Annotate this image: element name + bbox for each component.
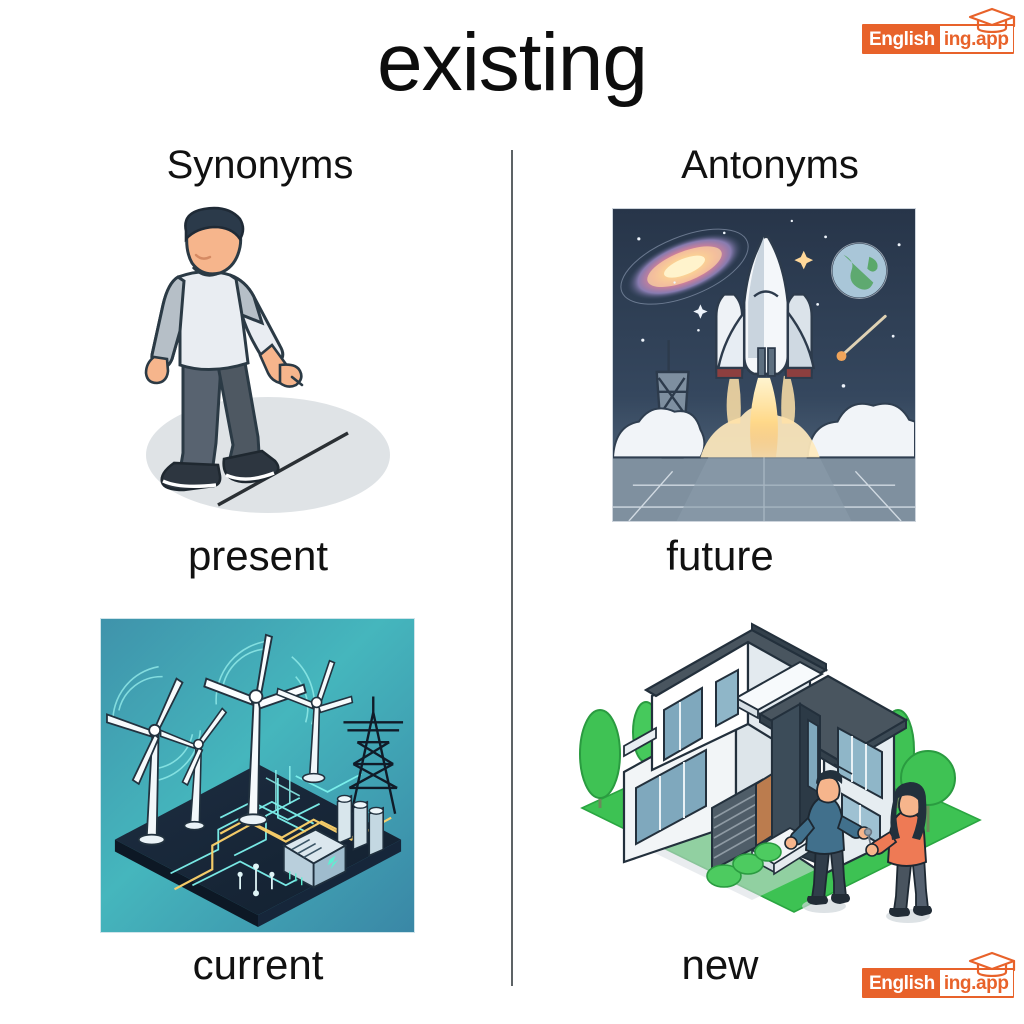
illustration-future	[612, 208, 916, 522]
page-title: existing	[0, 22, 1024, 104]
illustration-current	[100, 618, 415, 933]
word-label-future: future	[510, 535, 930, 577]
word-label-present: present	[48, 535, 468, 577]
infographic-page: English ing.app English ing.app existing…	[0, 0, 1024, 1024]
earth-planet	[832, 243, 888, 299]
word-label-current: current	[48, 944, 468, 986]
column-heading-antonyms: Antonyms	[570, 143, 970, 188]
graduation-cap-icon	[966, 951, 1018, 977]
illustration-present	[120, 205, 410, 520]
word-label-new: new	[510, 944, 930, 986]
column-heading-synonyms: Synonyms	[60, 143, 460, 188]
illustration-new	[576, 612, 986, 932]
